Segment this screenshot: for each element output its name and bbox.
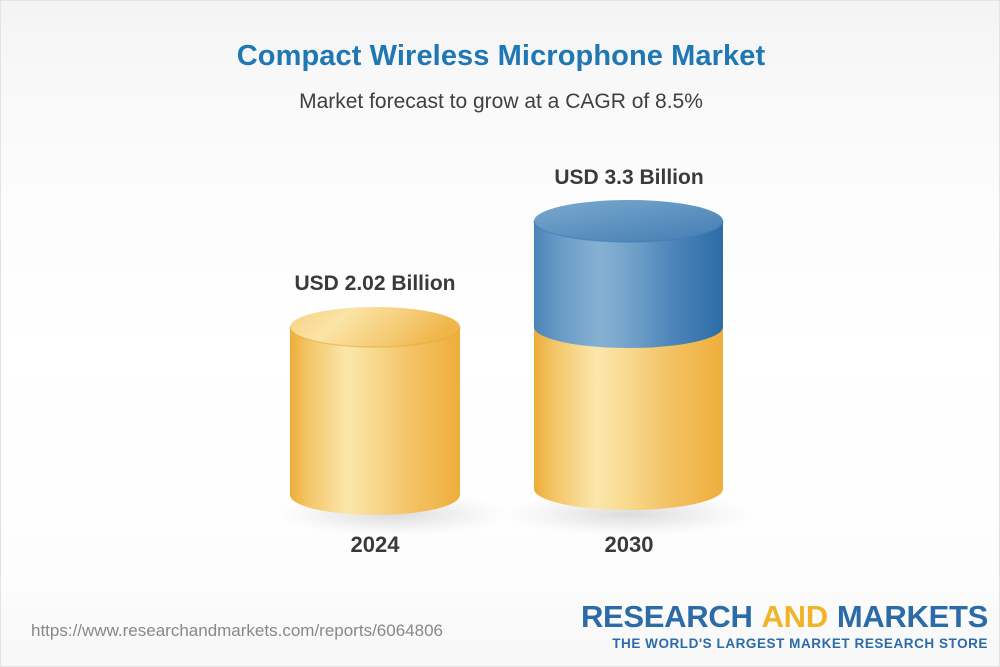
value-label-2030: USD 3.3 Billion xyxy=(479,166,779,190)
brand-logo-word-research: RESEARCH xyxy=(581,599,753,634)
bar-2024 xyxy=(278,307,508,536)
brand-logo-wordmark: RESEARCHANDMARKETS xyxy=(581,601,988,632)
source-url[interactable]: https://www.researchandmarkets.com/repor… xyxy=(31,621,443,641)
page-subtitle: Market forecast to grow at a CAGR of 8.5… xyxy=(1,90,1000,114)
brand-logo[interactable]: RESEARCHANDMARKETS THE WORLD'S LARGEST M… xyxy=(581,601,988,651)
bar-2030 xyxy=(505,200,753,536)
category-label-2030: 2030 xyxy=(479,532,779,558)
page-title: Compact Wireless Microphone Market xyxy=(1,40,1000,73)
bar-2024-body xyxy=(290,327,460,515)
bar-2030-segment-base xyxy=(534,327,723,510)
infographic-card: Compact Wireless Microphone Market Marke… xyxy=(0,0,1000,667)
brand-logo-word-markets: MARKETS xyxy=(837,599,988,634)
brand-logo-word-and: AND xyxy=(762,599,828,634)
value-label-2024: USD 2.02 Billion xyxy=(225,272,525,296)
brand-logo-tagline: THE WORLD'S LARGEST MARKET RESEARCH STOR… xyxy=(581,637,988,651)
